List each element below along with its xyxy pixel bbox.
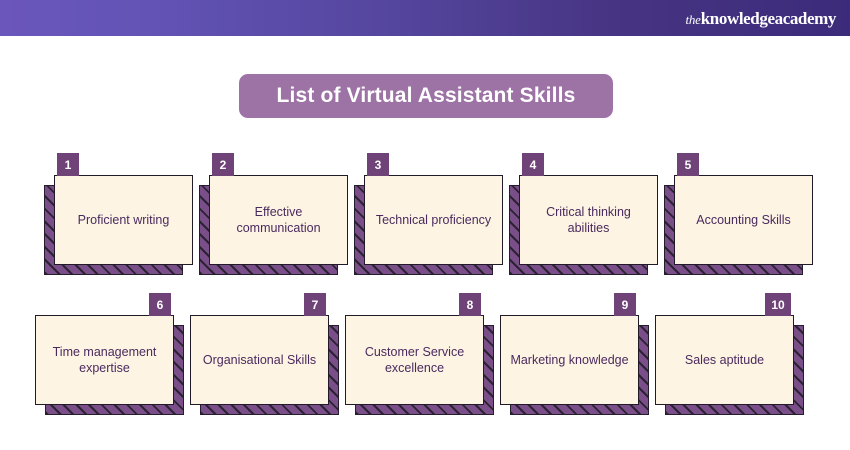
skill-card[interactable]: 4 Critical thinking abilities: [507, 145, 662, 275]
skill-card[interactable]: 9 Marketing knowledge: [498, 285, 653, 415]
skill-card[interactable]: 3 Technical proficiency: [352, 145, 507, 275]
card-number-badge: 10: [765, 293, 791, 316]
card-number-badge: 3: [367, 153, 389, 176]
title-banner: List of Virtual Assistant Skills: [239, 74, 613, 118]
skill-card[interactable]: 10 Sales aptitude: [653, 285, 808, 415]
card-number-badge: 5: [677, 153, 699, 176]
card-number-badge: 7: [304, 293, 326, 316]
skill-card[interactable]: 7 Organisational Skills: [188, 285, 343, 415]
card-face: Accounting Skills: [674, 175, 813, 265]
skill-card[interactable]: 6 Time management expertise: [33, 285, 188, 415]
card-row-top: 1 Proficient writing 2 Effective communi…: [0, 145, 850, 275]
card-face: Organisational Skills: [190, 315, 329, 405]
brand-logo: theknowledgeacademy: [685, 10, 850, 27]
card-label: Marketing knowledge: [510, 352, 628, 369]
card-label: Technical proficiency: [376, 212, 491, 229]
skills-card-grid: 1 Proficient writing 2 Effective communi…: [0, 140, 850, 430]
card-label: Critical thinking abilities: [527, 204, 650, 237]
brand-prefix-text: the: [685, 13, 700, 26]
card-row-bottom: 6 Time management expertise 7 Organisati…: [0, 285, 850, 415]
card-face: Customer Service excellence: [345, 315, 484, 405]
card-label: Organisational Skills: [203, 352, 316, 369]
card-face: Time management expertise: [35, 315, 174, 405]
card-number-badge: 2: [212, 153, 234, 176]
card-number-badge: 1: [57, 153, 79, 176]
card-label: Accounting Skills: [696, 212, 791, 229]
page-title: List of Virtual Assistant Skills: [277, 84, 576, 108]
card-number-badge: 9: [614, 293, 636, 316]
card-number-badge: 6: [149, 293, 171, 316]
brand-name-text: knowledgeacademy: [701, 10, 836, 27]
card-face: Technical proficiency: [364, 175, 503, 265]
card-label: Time management expertise: [43, 344, 166, 377]
card-label: Sales aptitude: [685, 352, 764, 369]
skill-card[interactable]: 2 Effective communication: [197, 145, 352, 275]
skill-card[interactable]: 5 Accounting Skills: [662, 145, 817, 275]
card-number-badge: 4: [522, 153, 544, 176]
card-face: Effective communication: [209, 175, 348, 265]
skill-card[interactable]: 1 Proficient writing: [42, 145, 197, 275]
card-label: Customer Service excellence: [353, 344, 476, 377]
skill-card[interactable]: 8 Customer Service excellence: [343, 285, 498, 415]
card-number-badge: 8: [459, 293, 481, 316]
card-label: Effective communication: [217, 204, 340, 237]
card-face: Critical thinking abilities: [519, 175, 658, 265]
card-face: Proficient writing: [54, 175, 193, 265]
card-face: Marketing knowledge: [500, 315, 639, 405]
card-face: Sales aptitude: [655, 315, 794, 405]
header-bar: theknowledgeacademy: [0, 0, 850, 36]
card-label: Proficient writing: [78, 212, 170, 229]
